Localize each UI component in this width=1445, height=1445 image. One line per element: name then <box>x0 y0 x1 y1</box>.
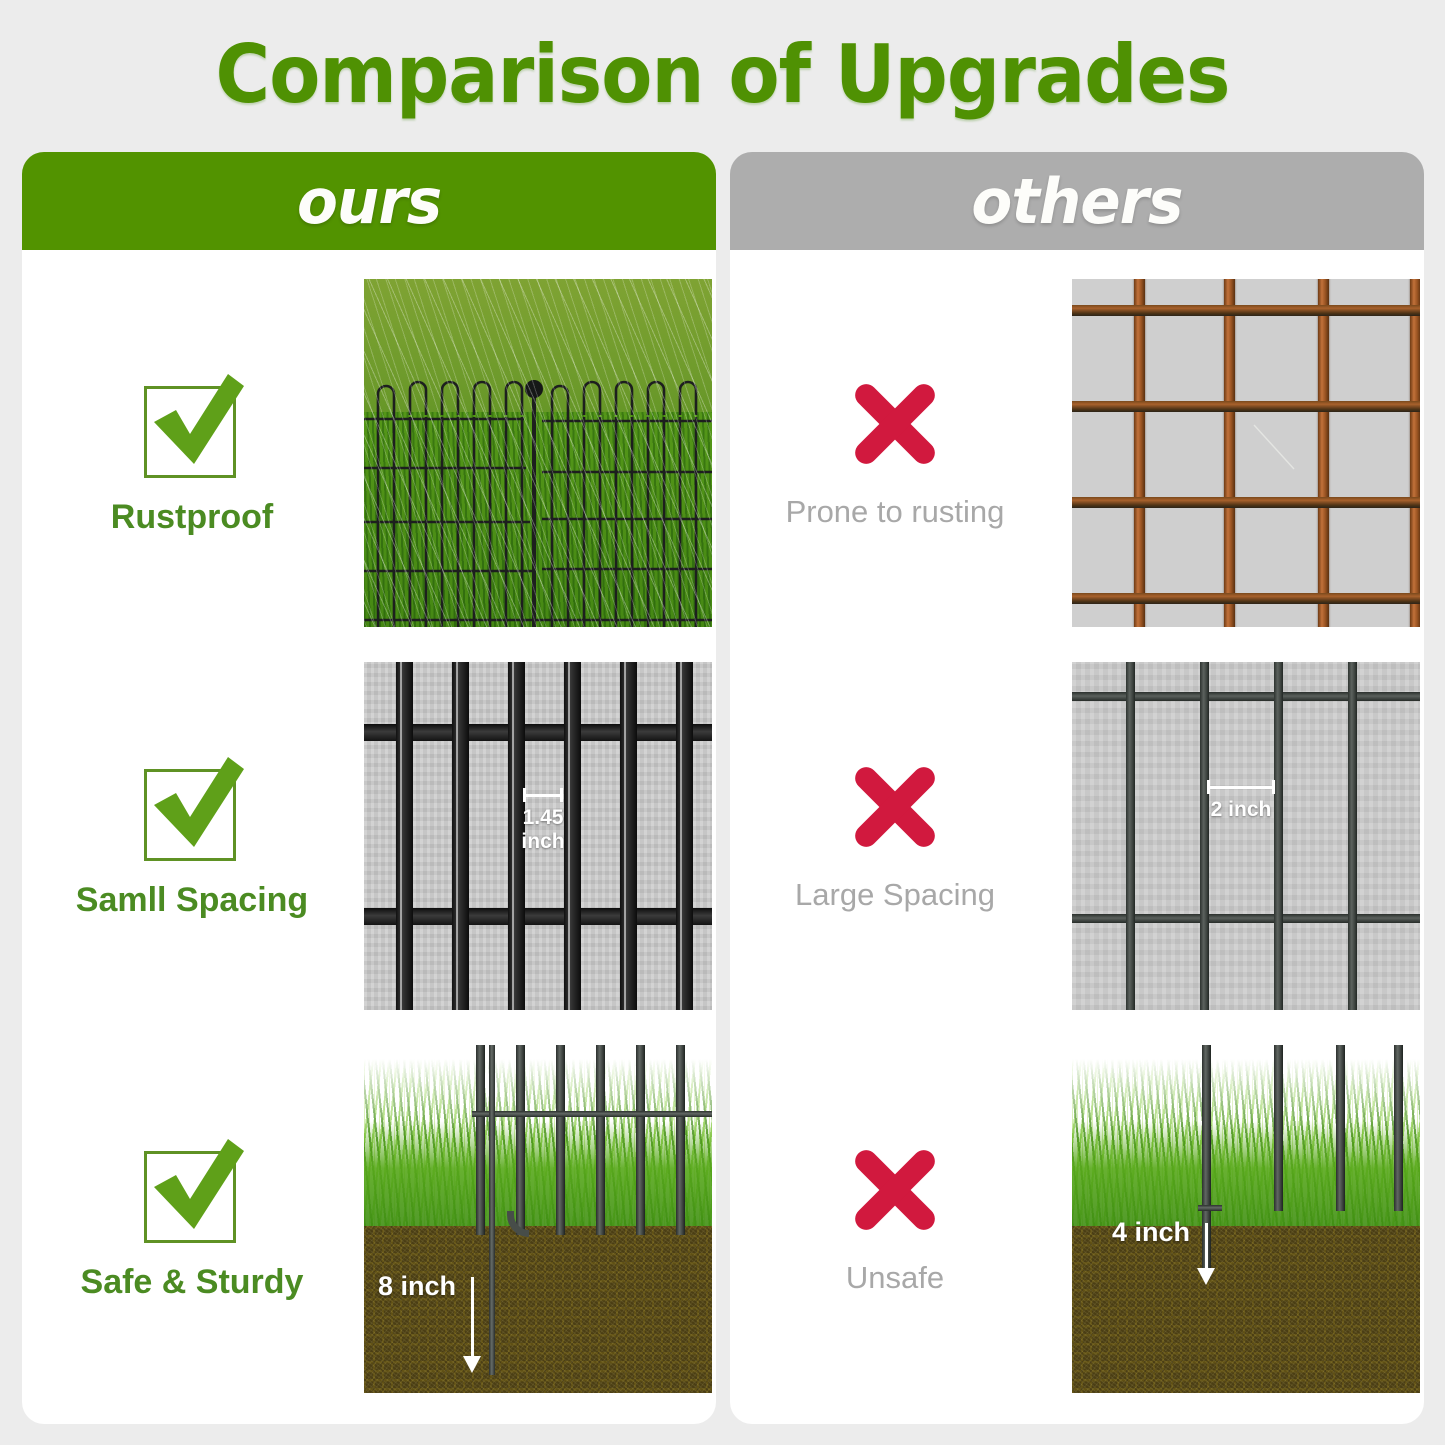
feature-label-large-spacing: Large Spacing <box>795 877 995 913</box>
dimension-cap-left <box>523 788 526 802</box>
feature-prone-to-rusting: Prone to rusting <box>730 376 1060 530</box>
fence-post <box>636 1045 645 1235</box>
dimension-label: 1.45 inch <box>521 806 564 853</box>
column-header-label-others: others <box>971 165 1182 238</box>
fence-post <box>516 1045 525 1235</box>
feature-label-rustproof: Rustproof <box>111 498 273 537</box>
fence-bar <box>1348 662 1357 1010</box>
feature-small-spacing: Samll Spacing <box>22 753 362 920</box>
fence-post <box>596 1045 605 1235</box>
dimension-bar <box>1207 780 1275 794</box>
fence-bar <box>564 662 581 1010</box>
rain-streaks-secondary <box>364 279 712 627</box>
fence-post <box>556 1045 565 1235</box>
shallow-stake-soil-photo: 4 inch <box>1072 1045 1420 1393</box>
feature-label-safe-sturdy: Safe & Sturdy <box>81 1263 304 1302</box>
arrow-head <box>1197 1268 1215 1285</box>
fence-post <box>676 1045 685 1235</box>
green-check-icon <box>138 1135 246 1243</box>
red-x-icon <box>847 1142 943 1238</box>
check-mark-glyph <box>136 747 248 859</box>
fence-rail <box>1072 692 1420 701</box>
column-header-label-ours: ours <box>297 165 441 238</box>
fence-post <box>1336 1045 1345 1211</box>
rusty-grid-photo <box>1072 279 1420 627</box>
dimension-cap-right <box>560 788 563 802</box>
column-header-others: others <box>730 152 1424 250</box>
fence-rail <box>472 1111 712 1117</box>
fence-rail <box>1198 1205 1222 1211</box>
photo-turf <box>1072 662 1420 1010</box>
green-check-icon <box>138 753 246 861</box>
dimension-cap-left <box>1207 780 1210 794</box>
feature-safe-sturdy: Safe & Sturdy <box>22 1135 362 1302</box>
fence-bar <box>396 662 413 1010</box>
dimension-bar <box>523 788 563 802</box>
row-prone-to-rusting: Prone to rusting <box>730 262 1424 645</box>
row-large-spacing: Large Spacing <box>730 645 1424 1028</box>
fence-post <box>476 1045 485 1235</box>
down-arrow-icon <box>1196 1223 1216 1285</box>
dimension-label: 2 inch <box>1211 798 1272 822</box>
large-spacing-fence-photo: 2 inch <box>1072 662 1420 1010</box>
row-safe-sturdy: Safe & Sturdy <box>22 1027 716 1410</box>
column-ours: ours Rustproof <box>22 152 716 1424</box>
photo-grass-base <box>364 1121 712 1225</box>
fence-bar <box>620 662 637 1010</box>
check-mark-glyph <box>136 1129 248 1241</box>
deep-stake-soil-photo: 8 inch <box>364 1045 712 1393</box>
row-small-spacing: Samll Spacing <box>22 645 716 1028</box>
depth-label: 8 inch <box>378 1271 456 1302</box>
fence-bar <box>1200 662 1209 1010</box>
fence-bar <box>1274 662 1283 1010</box>
comparison-infographic: Comparison of Upgrades ours <box>0 0 1445 1445</box>
fence-bar <box>452 662 469 1010</box>
fence-post <box>1394 1045 1403 1211</box>
green-check-icon <box>138 370 246 478</box>
depth-annotation-4-inch: 4 inch <box>1112 1223 1216 1285</box>
fence-bar <box>1126 662 1135 1010</box>
row-rustproof: Rustproof <box>22 262 716 645</box>
check-mark-glyph <box>136 364 248 476</box>
column-body-others: Prone to rusting <box>730 250 1424 1424</box>
fence-rail <box>364 724 712 741</box>
spacing-dimension-1-45-inch: 1.45 inch <box>523 788 563 853</box>
column-others: others Prone to rusting <box>730 152 1424 1424</box>
feature-unsafe: Unsafe <box>730 1142 1060 1296</box>
photo-grass-base <box>1072 1121 1420 1225</box>
red-x-icon <box>847 759 943 855</box>
ground-stake <box>489 1045 495 1375</box>
column-header-ours: ours <box>22 152 716 250</box>
depth-annotation-8-inch: 8 inch <box>378 1277 482 1373</box>
small-spacing-fence-photo: 1.45 inch <box>364 662 712 1010</box>
arrow-shaft <box>1205 1223 1208 1271</box>
feature-large-spacing: Large Spacing <box>730 759 1060 913</box>
red-x-icon <box>847 376 943 472</box>
down-arrow-icon <box>462 1277 482 1373</box>
feature-label-small-spacing: Samll Spacing <box>76 881 308 920</box>
spacing-dimension-2-inch: 2 inch <box>1207 780 1275 822</box>
rain-on-fence-photo <box>364 279 712 627</box>
fence-rail <box>364 908 712 925</box>
comparison-columns: ours Rustproof <box>22 152 1424 1424</box>
depth-label: 4 inch <box>1112 1217 1190 1248</box>
page-title: Comparison of Upgrades <box>51 28 1395 121</box>
arrow-head <box>463 1356 481 1373</box>
fence-rail <box>1072 914 1420 923</box>
fence-bar <box>676 662 693 1010</box>
fence-post <box>1274 1045 1283 1211</box>
dimension-cap-right <box>1272 780 1275 794</box>
feature-label-unsafe: Unsafe <box>846 1260 944 1296</box>
arrow-shaft <box>471 1277 474 1359</box>
row-unsafe: Unsafe 4 inch <box>730 1027 1424 1410</box>
feature-label-prone-to-rusting: Prone to rusting <box>786 494 1005 530</box>
cobweb-strand <box>1072 279 1420 627</box>
column-body-ours: Rustproof <box>22 250 716 1424</box>
feature-rustproof: Rustproof <box>22 370 362 537</box>
